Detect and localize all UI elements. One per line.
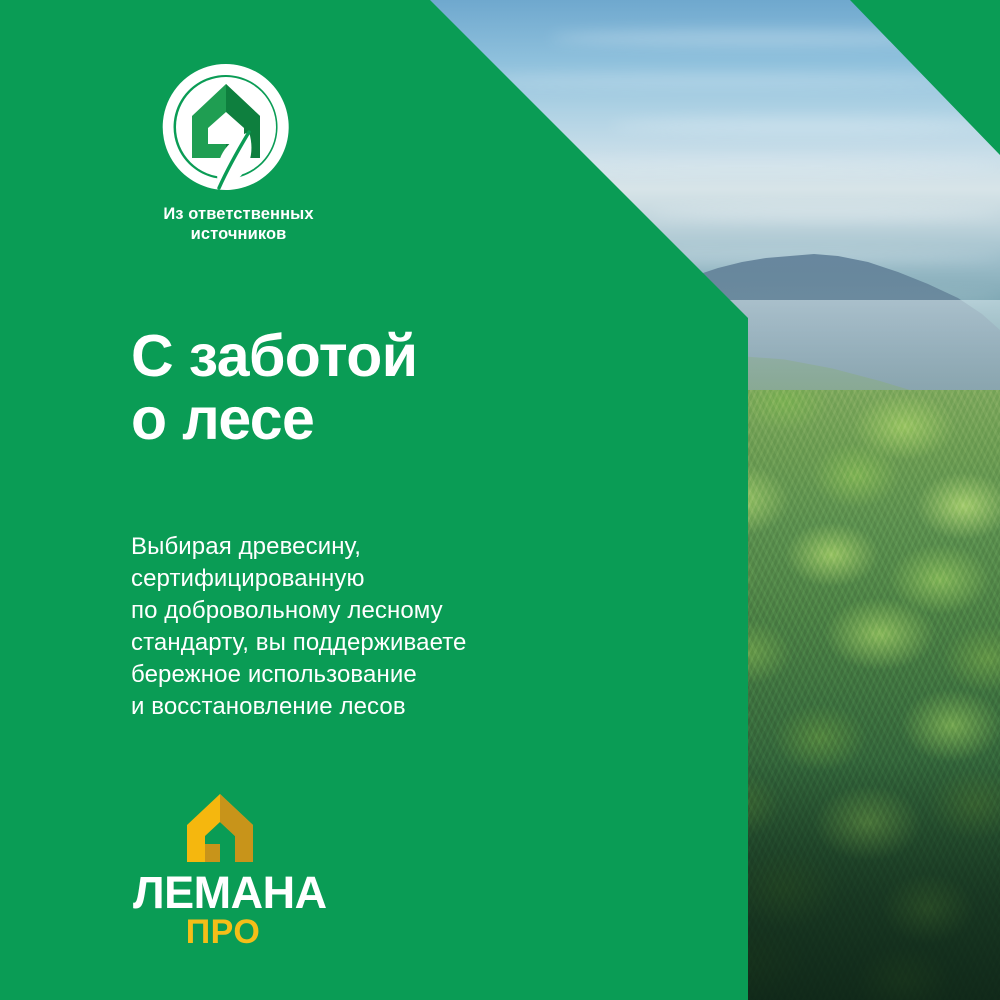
promo-poster: Из ответственных источников С заботой о … bbox=[0, 0, 1000, 1000]
poster-content: Из ответственных источников С заботой о … bbox=[0, 0, 1000, 1000]
certification-badge: Из ответственных источников bbox=[131, 62, 346, 244]
body-copy: Выбирая древесину, сертифицированную по … bbox=[131, 531, 467, 722]
page-title: С заботой о лесе bbox=[131, 325, 417, 451]
brand-lockup: ЛЕМАНА ПРО bbox=[133, 792, 313, 951]
brand-name: ЛЕМАНА bbox=[133, 870, 313, 915]
lemana-house-icon bbox=[179, 792, 261, 864]
badge-caption: Из ответственных источников bbox=[131, 204, 346, 244]
house-leaf-circle-logo-icon bbox=[161, 62, 291, 192]
brand-sub: ПРО bbox=[133, 915, 313, 951]
